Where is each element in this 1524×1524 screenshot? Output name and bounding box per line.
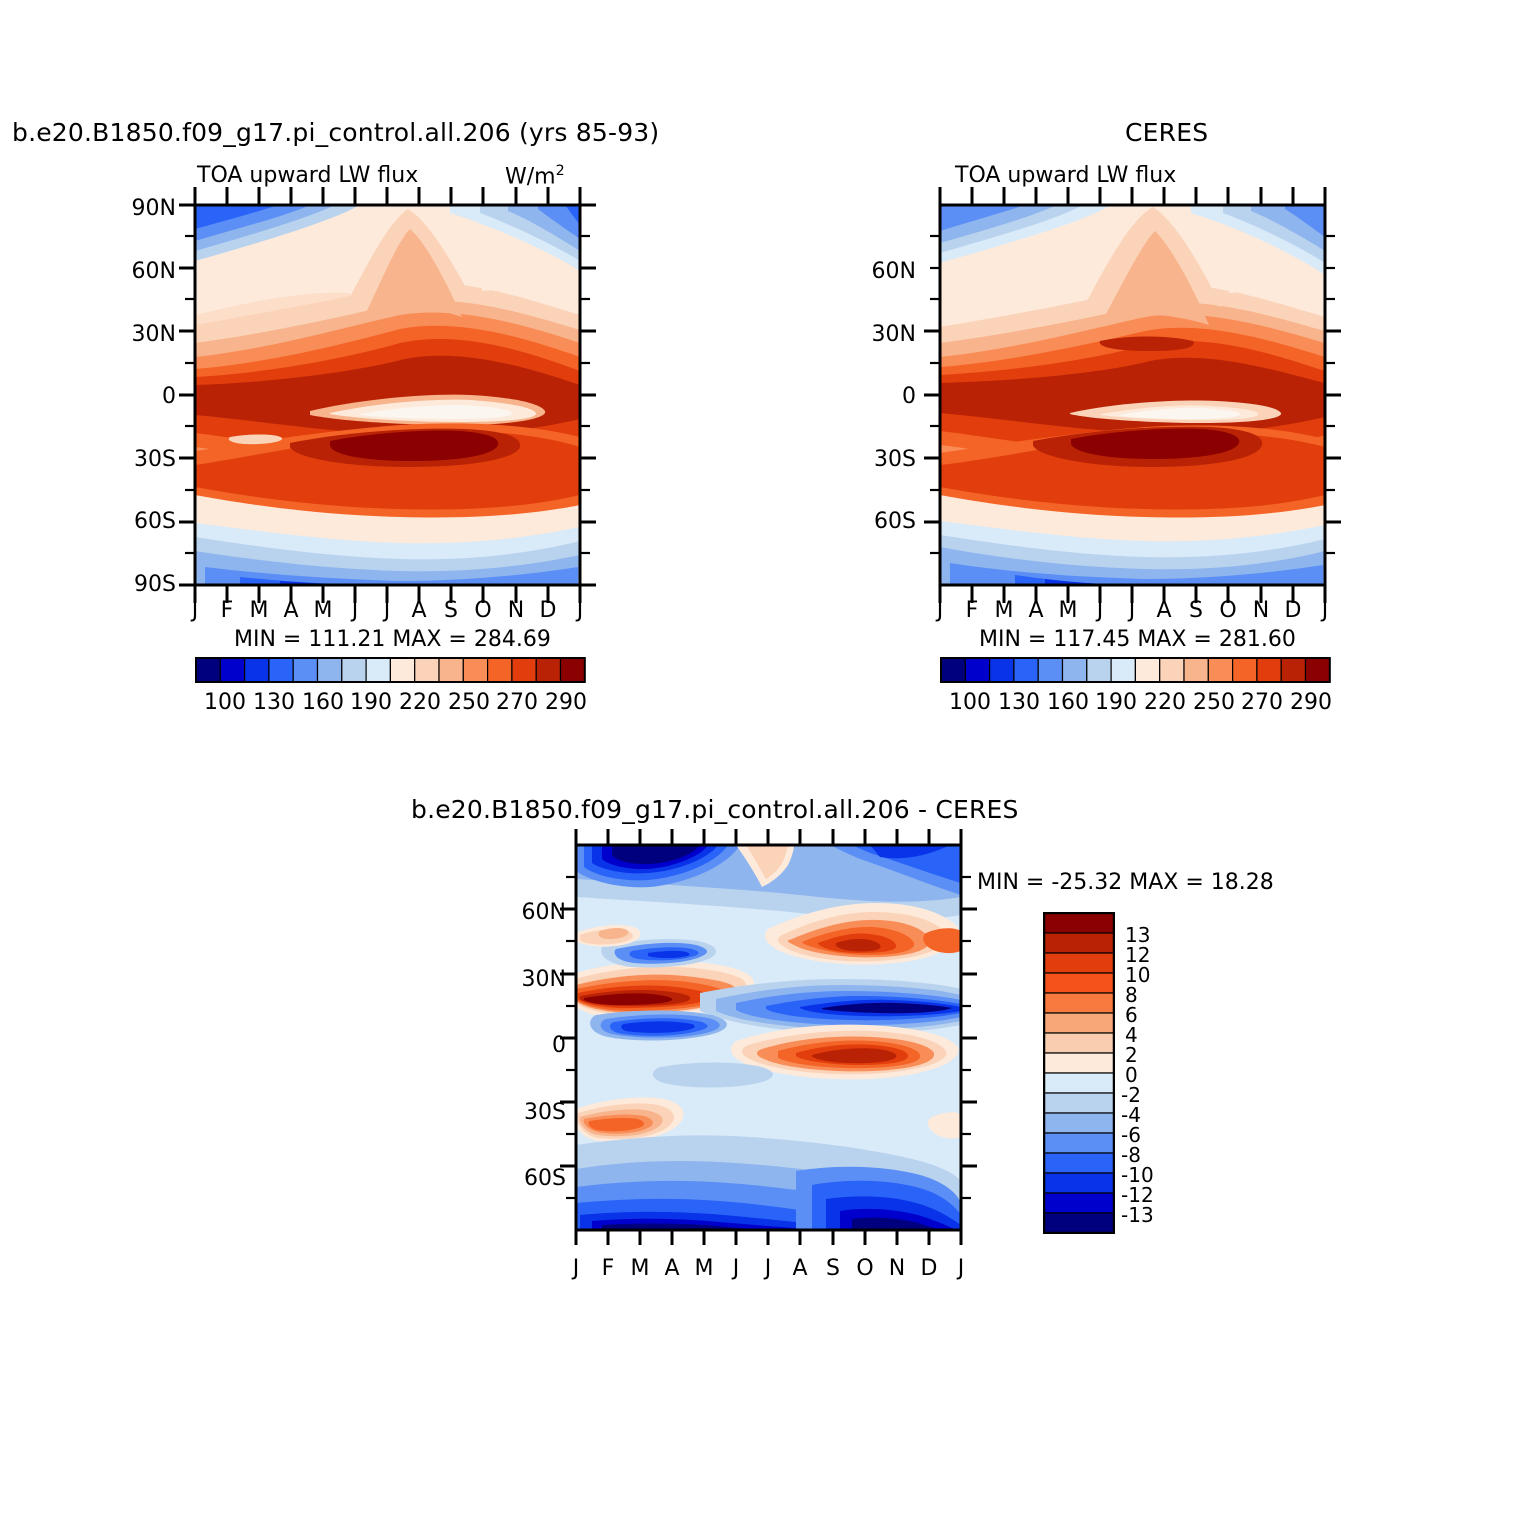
diff-right-ticks (961, 877, 977, 1198)
model-cb-label-5: 250 (447, 690, 491, 715)
model-cb-label-7: 290 (544, 690, 588, 715)
obs-right-ticks (1325, 236, 1341, 553)
panel-obs: CERES TOA upward LW flux 60N 30N 0 30S 6… (760, 0, 1524, 740)
model-cb-label-4: 220 (398, 690, 442, 715)
model-contour-plot (160, 175, 615, 615)
model-xlabel-12: J (560, 598, 600, 623)
panel-difference: b.e20.B1850.f09_g17.pi_control.all.206 -… (0, 760, 1524, 1320)
obs-top-ticks (940, 187, 1325, 205)
diff-xlabel-12: J (941, 1256, 981, 1281)
diff-top-ticks (576, 829, 961, 845)
diff-contour-plot (540, 825, 1000, 1245)
obs-cb-label-4: 220 (1143, 690, 1187, 715)
diff-left-ticks (560, 877, 576, 1198)
model-colorbar[interactable] (195, 657, 587, 685)
model-left-ticks (179, 205, 195, 585)
model-cb-label-0: 100 (203, 690, 247, 715)
model-right-ticks (580, 205, 596, 585)
model-cb-label-1: 130 (252, 690, 296, 715)
obs-cb-label-3: 190 (1094, 690, 1138, 715)
model-cb-label-6: 270 (495, 690, 539, 715)
diff-colorbar[interactable] (1043, 912, 1115, 1234)
model-minmax-label: MIN = 111.21 MAX = 284.69 (234, 627, 551, 652)
obs-cb-label-1: 130 (997, 690, 1041, 715)
model-top-ticks (195, 187, 580, 205)
obs-panel-title: CERES (1125, 118, 1208, 147)
model-cb-label-3: 190 (349, 690, 393, 715)
model-panel-title: b.e20.B1850.f09_g17.pi_control.all.206 (… (12, 118, 659, 147)
diff-minmax-label: MIN = -25.32 MAX = 18.28 (977, 870, 1274, 895)
obs-cb-label-0: 100 (948, 690, 992, 715)
obs-left-ticks (924, 236, 940, 553)
obs-cb-label-6: 270 (1240, 690, 1284, 715)
colorbar-cells (196, 658, 585, 682)
colorbar-cells (1044, 913, 1114, 1233)
obs-cb-label-5: 250 (1192, 690, 1236, 715)
obs-minmax-label: MIN = 117.45 MAX = 281.60 (979, 627, 1296, 652)
diff-panel-title: b.e20.B1850.f09_g17.pi_control.all.206 -… (411, 795, 1019, 824)
panel-model: b.e20.B1850.f09_g17.pi_control.all.206 (… (0, 0, 760, 740)
diff-cb-label-14: -13 (1121, 1203, 1154, 1227)
obs-contour-plot (905, 175, 1360, 615)
obs-cb-label-7: 290 (1289, 690, 1333, 715)
colorbar-cells (941, 658, 1330, 682)
model-cb-label-2: 160 (301, 690, 345, 715)
obs-colorbar[interactable] (940, 657, 1332, 685)
diff-bottom-ticks (576, 1230, 961, 1245)
obs-cb-label-2: 160 (1046, 690, 1090, 715)
obs-xlabel-12: J (1305, 598, 1345, 623)
